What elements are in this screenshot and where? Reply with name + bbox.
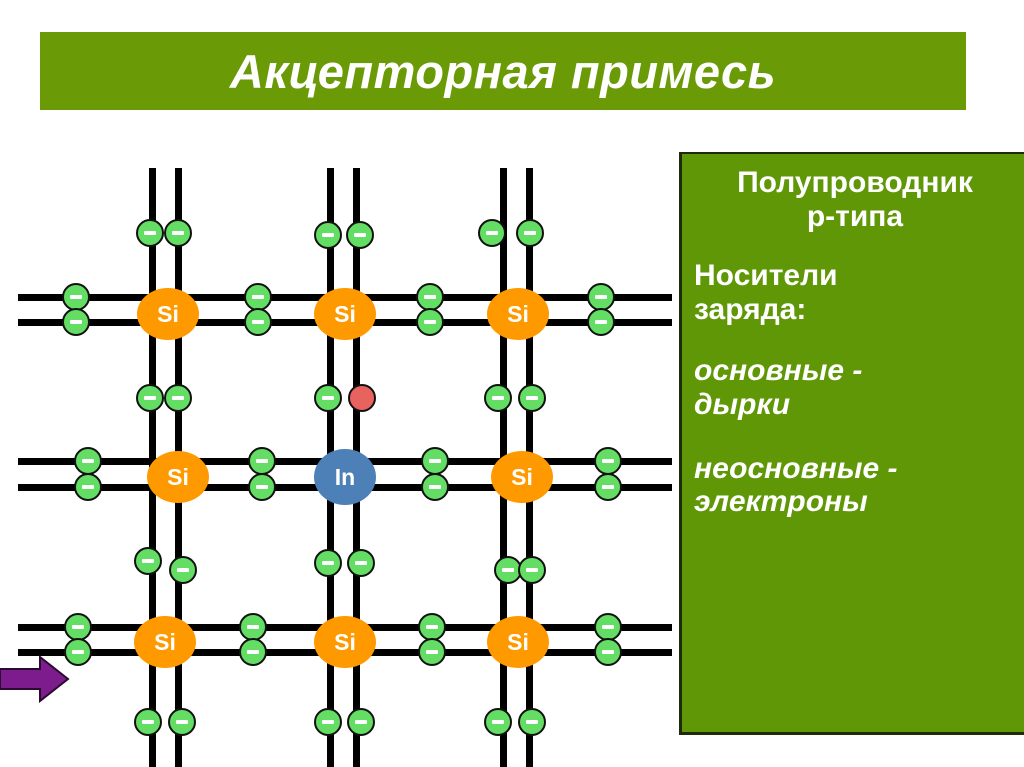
minus-sign-icon (426, 650, 438, 654)
minus-sign-icon (354, 233, 366, 237)
electron-dot (347, 549, 375, 577)
minus-sign-icon (142, 559, 154, 563)
electron-dot (484, 708, 512, 736)
electron-dot (169, 556, 197, 584)
minus-sign-icon (355, 561, 367, 565)
minus-sign-icon (70, 320, 82, 324)
electron-dot (64, 613, 92, 641)
panel-minority-line2: электроны (694, 485, 1016, 519)
minus-sign-icon (172, 396, 184, 400)
minus-sign-icon (424, 295, 436, 299)
panel-heading-line1: Полупроводник (694, 166, 1016, 200)
minus-sign-icon (72, 625, 84, 629)
minus-sign-icon (492, 720, 504, 724)
electron-dot (244, 308, 272, 336)
minus-sign-icon (426, 625, 438, 629)
electron-dot (248, 473, 276, 501)
panel-carriers-label-line2: заряда: (694, 293, 1016, 327)
minus-sign-icon (142, 720, 154, 724)
atom-silicon: Si (314, 616, 376, 668)
electron-dot (62, 308, 90, 336)
electron-dot (421, 447, 449, 475)
minus-sign-icon (72, 650, 84, 654)
minus-sign-icon (322, 396, 334, 400)
electron-dot (134, 547, 162, 575)
panel-carriers-label-line1: Носители (694, 259, 1016, 293)
minus-sign-icon (247, 650, 259, 654)
panel-heading-line2: p-типа (694, 200, 1016, 234)
electron-dot (74, 473, 102, 501)
minus-sign-icon (602, 459, 614, 463)
electron-dot (168, 708, 196, 736)
minus-sign-icon (252, 295, 264, 299)
electron-dot (478, 219, 506, 247)
electron-dot (239, 613, 267, 641)
electron-dot (418, 613, 446, 641)
electron-dot (239, 638, 267, 666)
electron-dot (62, 283, 90, 311)
minus-sign-icon (492, 396, 504, 400)
atom-silicon: Si (314, 288, 376, 340)
electron-dot (587, 308, 615, 336)
electron-dot (248, 447, 276, 475)
electron-dot (587, 283, 615, 311)
slide-canvas: Акцепторная примесь SiSiSiSiInSiSiSiSi П… (0, 0, 1024, 767)
electron-dot (594, 473, 622, 501)
info-panel: Полупроводник p-типа Носители заряда: ос… (679, 152, 1024, 735)
electron-dot (314, 708, 342, 736)
minus-sign-icon (424, 320, 436, 324)
minus-sign-icon (526, 720, 538, 724)
electron-dot (136, 384, 164, 412)
electron-dot (134, 708, 162, 736)
atom-indium: In (314, 449, 376, 505)
panel-minority-line1: неосновные - (694, 452, 1016, 486)
electron-flow-arrow (0, 655, 70, 703)
minus-sign-icon (595, 320, 607, 324)
electron-dot (164, 219, 192, 247)
electron-dot (346, 221, 374, 249)
minus-sign-icon (144, 396, 156, 400)
minus-sign-icon (322, 720, 334, 724)
minus-sign-icon (429, 459, 441, 463)
electron-dot (484, 384, 512, 412)
minus-sign-icon (322, 561, 334, 565)
electron-dot (518, 708, 546, 736)
electron-dot (164, 384, 192, 412)
electron-dot (136, 219, 164, 247)
atom-silicon: Si (487, 288, 549, 340)
electron-dot (418, 638, 446, 666)
minus-sign-icon (247, 625, 259, 629)
atom-silicon: Si (487, 616, 549, 668)
electron-dot (421, 473, 449, 501)
minus-sign-icon (502, 568, 514, 572)
minus-sign-icon (82, 459, 94, 463)
atom-silicon: Si (491, 451, 553, 503)
hole-dot (348, 384, 376, 412)
minus-sign-icon (486, 231, 498, 235)
minus-sign-icon (144, 231, 156, 235)
minus-sign-icon (177, 568, 189, 572)
minus-sign-icon (82, 485, 94, 489)
minus-sign-icon (524, 231, 536, 235)
electron-dot (314, 384, 342, 412)
electron-dot (594, 447, 622, 475)
electron-dot (594, 613, 622, 641)
minus-sign-icon (602, 650, 614, 654)
electron-dot (74, 447, 102, 475)
atom-silicon: Si (134, 616, 196, 668)
electron-dot (314, 221, 342, 249)
minus-sign-icon (595, 295, 607, 299)
electron-dot (516, 219, 544, 247)
minus-sign-icon (602, 485, 614, 489)
minus-sign-icon (355, 720, 367, 724)
minus-sign-icon (70, 295, 82, 299)
electron-dot (518, 384, 546, 412)
minus-sign-icon (526, 568, 538, 572)
minus-sign-icon (322, 233, 334, 237)
electron-dot (416, 308, 444, 336)
minus-sign-icon (256, 485, 268, 489)
minus-sign-icon (602, 625, 614, 629)
crystal-lattice-diagram: SiSiSiSiInSiSiSiSi (0, 0, 679, 767)
minus-sign-icon (176, 720, 188, 724)
minus-sign-icon (172, 231, 184, 235)
electron-dot (314, 549, 342, 577)
electron-dot (347, 708, 375, 736)
minus-sign-icon (252, 320, 264, 324)
atom-silicon: Si (137, 288, 199, 340)
minus-sign-icon (526, 396, 538, 400)
electron-dot (518, 556, 546, 584)
panel-majority-line1: основные - (694, 354, 1016, 388)
electron-dot (416, 283, 444, 311)
electron-dot (594, 638, 622, 666)
electron-dot (244, 283, 272, 311)
panel-majority-line2: дырки (694, 388, 1016, 422)
minus-sign-icon (256, 459, 268, 463)
minus-sign-icon (429, 485, 441, 489)
atom-silicon: Si (147, 451, 209, 503)
